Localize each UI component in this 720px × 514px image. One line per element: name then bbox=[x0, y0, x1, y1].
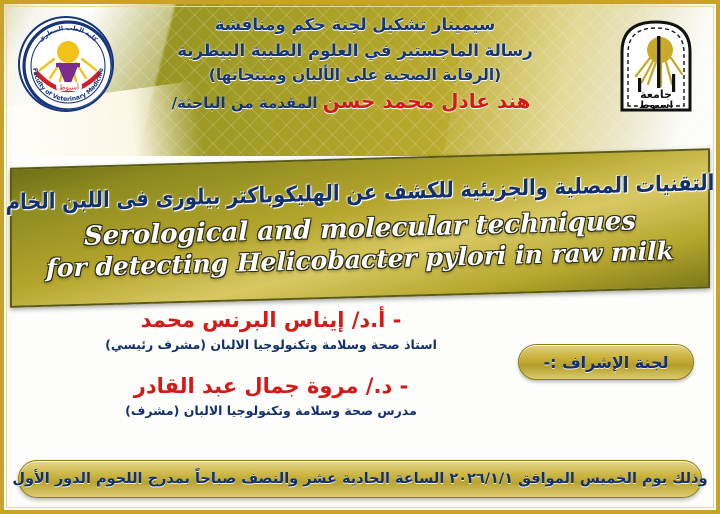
supervision-section: لجنة الإشراف :- - أ.د/ إيناس البرنس محمد… bbox=[4, 308, 716, 466]
presenter-label: المقدمة من الباحثة/ bbox=[172, 94, 318, 112]
supervisor-role: مدرس صحة وسلامة وتكنولوجيا الالبان (مشرف… bbox=[41, 403, 501, 418]
supervisor-role: استاذ صحة وسلامة وتكنولوجيا الالبان (مشر… bbox=[41, 337, 501, 352]
presenter-name: هند عادل محمد حسن bbox=[323, 89, 531, 113]
assiut-university-arch-icon: جامعة اسيوط bbox=[614, 14, 698, 116]
thesis-title-banner: التقنيات المصلية والجزيئية للكشف عن الهل… bbox=[10, 158, 710, 298]
poster-header: أسيوط كلية الطب البيطرى Faculty of Veter… bbox=[4, 4, 716, 156]
supervision-committee-badge: لجنة الإشراف :- bbox=[518, 344, 694, 380]
event-datetime-text: وذلك يوم الخميس الموافق ٢٠٢٦/١/١ الساعة … bbox=[12, 471, 707, 487]
supervisor-entry: - د./ مروة جمال عبد القادر مدرس صحة وسلا… bbox=[41, 374, 501, 418]
header-line-3: (الرقابة الصحية على الألبان ومنتجاتها) bbox=[106, 63, 604, 87]
svg-text:اسيوط: اسيوط bbox=[639, 100, 673, 111]
seminar-poster: أسيوط كلية الطب البيطرى Faculty of Veter… bbox=[0, 0, 720, 514]
header-line-1: سيمينار تشكيل لجنة حكم ومناقشة bbox=[106, 12, 604, 38]
assiut-university-logo: جامعة اسيوط bbox=[614, 14, 698, 116]
presenter-row: هند عادل محمد حسن المقدمة من الباحثة/ bbox=[106, 89, 604, 113]
vet-seal-icon: أسيوط كلية الطب البيطرى Faculty of Veter… bbox=[20, 18, 114, 112]
supervisor-name: - د./ مروة جمال عبد القادر bbox=[41, 374, 501, 398]
faculty-of-veterinary-medicine-logo: أسيوط كلية الطب البيطرى Faculty of Veter… bbox=[18, 16, 114, 112]
supervisor-entry: - أ.د/ إيناس البرنس محمد استاذ صحة وسلام… bbox=[41, 308, 501, 352]
supervisor-list: - أ.د/ إيناس البرنس محمد استاذ صحة وسلام… bbox=[41, 308, 501, 418]
event-datetime-bar: وذلك يوم الخميس الموافق ٢٠٢٦/١/١ الساعة … bbox=[18, 460, 702, 498]
supervision-committee-label: لجنة الإشراف :- bbox=[543, 353, 668, 372]
header-text-block: سيمينار تشكيل لجنة حكم ومناقشة رسالة الم… bbox=[106, 12, 604, 113]
header-line-2: رسالة الماجستير في العلوم الطبية البيطري… bbox=[106, 38, 604, 64]
title-text-block: التقنيات المصلية والجزيئية للكشف عن الهل… bbox=[10, 148, 710, 308]
supervisor-name: - أ.د/ إيناس البرنس محمد bbox=[41, 308, 501, 332]
svg-text:أسيوط: أسيوط bbox=[59, 83, 79, 92]
